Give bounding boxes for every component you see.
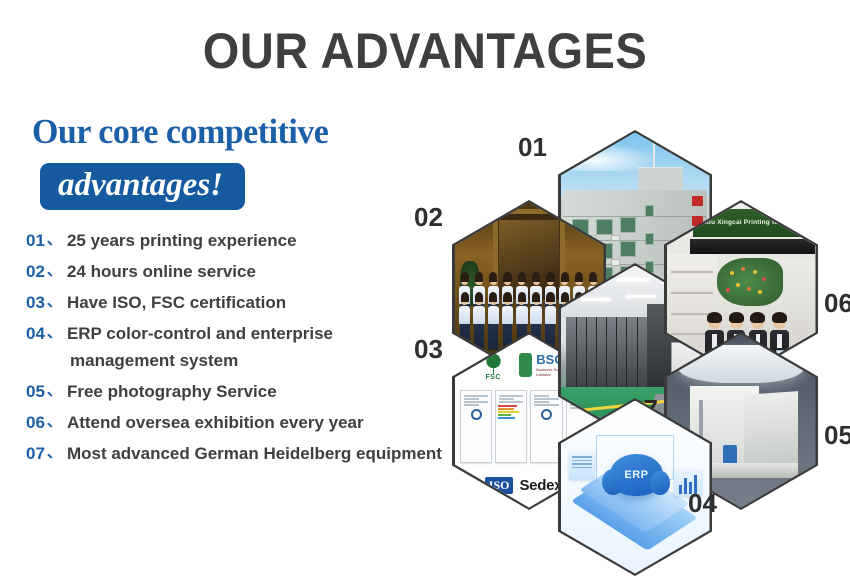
- hex-label-04: 04: [688, 488, 717, 519]
- list-item-separator: 、: [47, 383, 62, 398]
- list-item-number: 06: [26, 414, 45, 431]
- sedex-label: Sedex: [519, 477, 562, 494]
- hex-label-02: 02: [414, 202, 443, 233]
- list-item-number: 02: [26, 263, 45, 280]
- list-item: 01 、 25 years printing experience: [26, 232, 450, 249]
- erp-cloud-icon: ERP: [610, 454, 664, 496]
- list-item: 05 、 Free photography Service: [26, 383, 450, 400]
- list-item-text: Most advanced German Heidelberg equipmen…: [67, 445, 442, 462]
- list-item: 04 、 ERP color-control and enterprise: [26, 325, 450, 342]
- left-column: Our core competitive advantages! 01 、 25…: [0, 112, 450, 476]
- list-item-text: ERP color-control and enterprise: [67, 325, 333, 342]
- list-item-text: 25 years printing experience: [67, 232, 297, 249]
- headline-badge: advantages!: [40, 163, 245, 210]
- list-item-separator: 、: [47, 263, 62, 278]
- list-item-number: 04: [26, 325, 45, 342]
- erp-label: ERP: [624, 469, 648, 481]
- list-item-separator: 、: [47, 414, 62, 429]
- list-item-separator: 、: [47, 445, 62, 460]
- list-item: 03 、 Have ISO, FSC certification: [26, 294, 450, 311]
- list-item-text: Have ISO, FSC certification: [67, 294, 286, 311]
- list-item-text: Free photography Service: [67, 383, 277, 400]
- hex-label-06: 06: [824, 288, 850, 319]
- list-item-separator: 、: [47, 294, 62, 309]
- certificate-doc: [460, 390, 492, 463]
- list-item-number: 03: [26, 294, 45, 311]
- document-card-icon: [569, 452, 594, 480]
- hex-label-05: 05: [824, 420, 850, 451]
- headline-badge-text: advantages!: [58, 167, 223, 203]
- list-item-continuation: management system: [70, 352, 450, 369]
- list-item: 07 、 Most advanced German Heidelberg equ…: [26, 445, 450, 462]
- list-item-text: 24 hours online service: [67, 263, 256, 280]
- iso-label: ISO: [485, 477, 514, 494]
- advantage-list: 01 、 25 years printing experience 02 、 2…: [26, 232, 450, 462]
- fsc-label: FSC: [485, 374, 501, 381]
- list-item-number: 01: [26, 232, 45, 249]
- honeycomb-gallery: 01: [430, 110, 850, 550]
- list-item-number: 07: [26, 445, 45, 462]
- list-item-text: Attend oversea exhibition every year: [67, 414, 364, 431]
- booth-banner-text: zhou Xingcai Printing td.: [699, 219, 780, 227]
- headline-badge-wrap: advantages!: [40, 163, 450, 210]
- list-item-text: management system: [70, 352, 238, 369]
- certificate-doc: [530, 390, 562, 463]
- list-item: 02 、 24 hours online service: [26, 263, 450, 280]
- list-item-number: 05: [26, 383, 45, 400]
- list-item: 06 、 Attend oversea exhibition every yea…: [26, 414, 450, 431]
- list-item-separator: 、: [47, 232, 62, 247]
- certificate-doc: [495, 390, 527, 463]
- headline-line1: Our core competitive: [32, 112, 437, 152]
- list-item-separator: 、: [47, 325, 62, 340]
- page-title: OUR ADVANTAGES: [26, 22, 825, 80]
- hex-label-03: 03: [414, 334, 443, 365]
- hex-label-01: 01: [518, 132, 547, 163]
